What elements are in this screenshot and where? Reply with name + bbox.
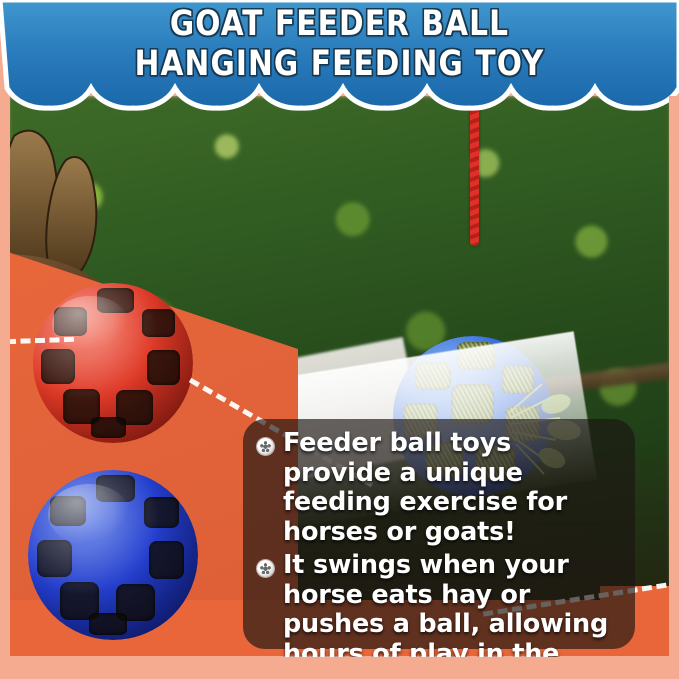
feeder-ball-bullet-icon xyxy=(257,438,274,455)
left-border-strip xyxy=(0,96,10,679)
feeder-ball-bullet-icon xyxy=(257,560,274,577)
ball-center-facet xyxy=(89,328,134,370)
callout-bullet-item: Feeder ball toys provide a unique feedin… xyxy=(257,429,623,547)
red-hanging-rope xyxy=(470,96,479,246)
ball-hole xyxy=(89,613,126,635)
ball-hole xyxy=(41,349,75,384)
ball-hole xyxy=(147,350,181,385)
title-banner: GOAT FEEDER BALL HANGING FEEDING TOY xyxy=(0,0,679,112)
ball-hole xyxy=(96,475,135,502)
callout-bullet-text: Feeder ball toys provide a unique feedin… xyxy=(283,429,623,547)
ball-hole xyxy=(142,309,176,338)
ball-hole xyxy=(149,541,185,578)
right-border-strip xyxy=(669,96,679,679)
feature-callout-box: Feeder ball toys provide a unique feedin… xyxy=(243,419,635,649)
banner-background xyxy=(0,0,679,112)
product-advertisement-image: Feeder ball toys provide a unique feedin… xyxy=(0,0,679,679)
ball-hole xyxy=(37,540,73,577)
ball-hole xyxy=(91,417,126,438)
ball-hole xyxy=(144,497,180,528)
ball-center-facet xyxy=(88,518,136,562)
ball-hole xyxy=(97,288,134,314)
ball-hole xyxy=(50,496,86,527)
ball-hole xyxy=(54,307,88,336)
blue-feeder-ball xyxy=(28,470,198,640)
bottom-border-strip xyxy=(0,657,679,679)
red-feeder-ball xyxy=(33,283,193,443)
